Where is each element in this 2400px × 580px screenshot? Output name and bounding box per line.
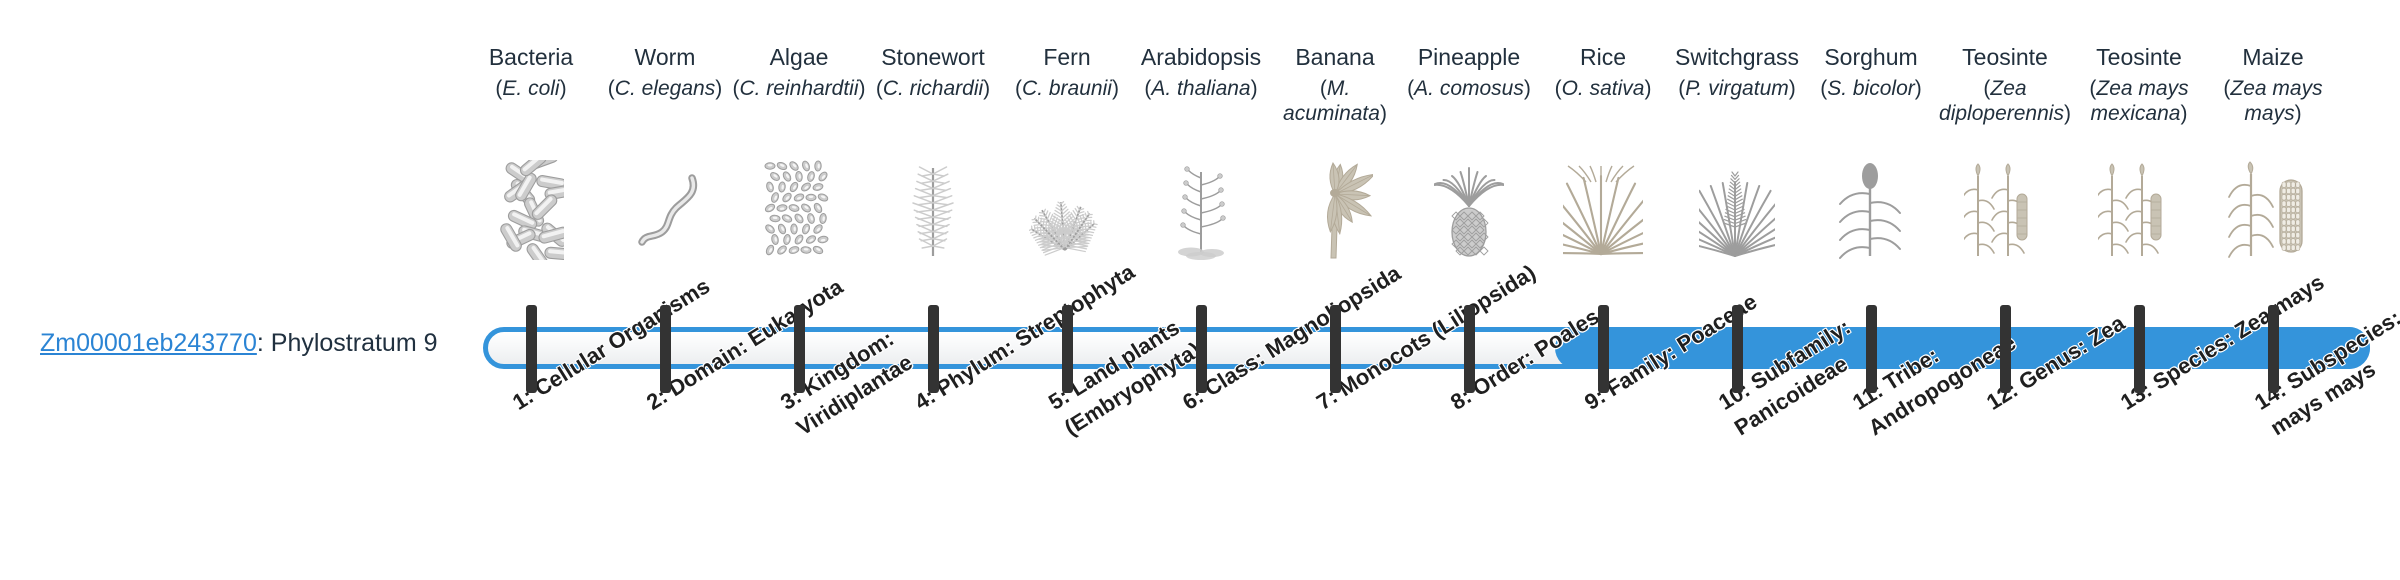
species-common-name: Switchgrass xyxy=(1670,44,1804,71)
species-common-name: Maize xyxy=(2206,44,2340,71)
phylostratum-viewer: Zm00001eb243770: Phylostratum 9 Bacteria… xyxy=(0,0,2400,580)
phylostratum-tick-10 xyxy=(1732,305,1743,393)
phylostratum-tick-9 xyxy=(1598,305,1609,393)
teosinte-diploperennis-illustration xyxy=(1938,160,2072,260)
species-scientific-name: (P. virgatum) xyxy=(1670,76,1804,101)
phylostratum-tick-4 xyxy=(928,305,939,393)
phylostratum-tick-13 xyxy=(2134,305,2145,393)
species-scientific-name: (C. braunii) xyxy=(1000,76,1134,101)
stonewort-illustration xyxy=(866,160,1000,260)
phylostratum-tick-2 xyxy=(660,305,671,393)
species-common-name: Pineapple xyxy=(1402,44,1536,71)
species-scientific-name: (Zea mays mexicana) xyxy=(2072,76,2206,126)
species-scientific-name: (C. richardii) xyxy=(866,76,1000,101)
rice-illustration xyxy=(1536,160,1670,260)
phylostratum-tick-12 xyxy=(2000,305,2011,393)
species-scientific-name: (E. coli) xyxy=(464,76,598,101)
phylostratum-value-text: Phylostratum 9 xyxy=(271,329,438,357)
gene-phylostratum-label: Zm00001eb243770: Phylostratum 9 xyxy=(40,329,460,358)
phylostratum-tick-11 xyxy=(1866,305,1877,393)
species-scientific-name: (A. comosus) xyxy=(1402,76,1536,101)
species-common-name: Sorghum xyxy=(1804,44,1938,71)
species-common-name: Teosinte xyxy=(1938,44,2072,71)
species-scientific-name: (M. acuminata) xyxy=(1268,76,1402,126)
banana-illustration xyxy=(1268,160,1402,260)
gene-id-link[interactable]: Zm00001eb243770 xyxy=(40,329,257,357)
sorghum-illustration xyxy=(1804,160,1938,260)
species-scientific-name: (S. bicolor) xyxy=(1804,76,1938,101)
species-scientific-name: (A. thaliana) xyxy=(1134,76,1268,101)
species-common-name: Arabidopsis xyxy=(1134,44,1268,71)
species-common-name: Bacteria xyxy=(464,44,598,71)
fern-illustration xyxy=(1000,160,1134,260)
phylostratum-tick-14 xyxy=(2268,305,2279,393)
species-common-name: Rice xyxy=(1536,44,1670,71)
species-common-name: Banana xyxy=(1268,44,1402,71)
bacteria-illustration xyxy=(464,160,598,260)
species-scientific-name: (C. reinhardtii) xyxy=(732,76,866,101)
phylostratum-tick-1 xyxy=(526,305,537,393)
species-common-name: Fern xyxy=(1000,44,1134,71)
arabidopsis-illustration xyxy=(1134,160,1268,260)
worm-illustration xyxy=(598,160,732,260)
species-common-name: Stonewort xyxy=(866,44,1000,71)
species-common-name: Algae xyxy=(732,44,866,71)
switchgrass-illustration xyxy=(1670,160,1804,260)
maize-illustration xyxy=(2206,160,2340,260)
species-scientific-name: (O. sativa) xyxy=(1536,76,1670,101)
phylostratum-tick-5 xyxy=(1062,305,1073,393)
phylostratum-tick-3 xyxy=(794,305,805,393)
gene-label-separator: : xyxy=(257,329,271,357)
species-scientific-name: (Zea diploperennis) xyxy=(1938,76,2072,126)
species-scientific-name: (Zea mays mays) xyxy=(2206,76,2340,126)
algae-illustration xyxy=(732,160,866,260)
species-scientific-name: (C. elegans) xyxy=(598,76,732,101)
pineapple-illustration xyxy=(1402,160,1536,260)
phylostratum-tick-7 xyxy=(1330,305,1341,393)
teosinte-mexicana-illustration xyxy=(2072,160,2206,260)
species-common-name: Worm xyxy=(598,44,732,71)
species-common-name: Teosinte xyxy=(2072,44,2206,71)
phylostratum-tick-8 xyxy=(1464,305,1475,393)
phylostratum-tick-6 xyxy=(1196,305,1207,393)
